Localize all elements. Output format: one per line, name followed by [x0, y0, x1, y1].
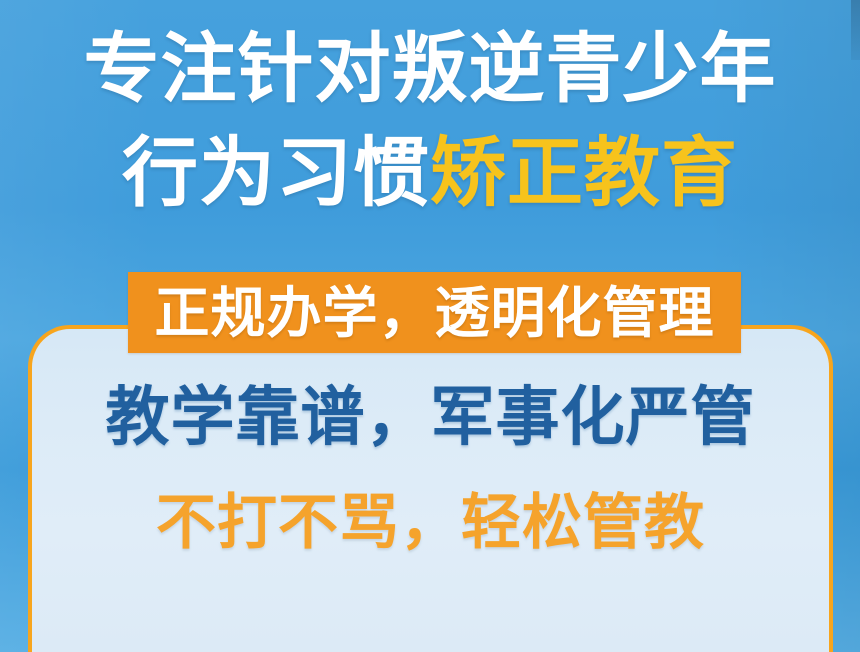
- card-line-secondary: 不打不骂，轻松管教: [32, 479, 829, 567]
- info-card-body: 教学靠谱，军事化严管 不打不骂，轻松管教: [32, 371, 829, 567]
- headline-line-2: 行为习惯矫正教育: [0, 122, 860, 226]
- headline-line-2-plain: 行为习惯: [122, 131, 430, 216]
- highlight-ribbon: 正规办学，透明化管理: [128, 272, 741, 353]
- info-card: 教学靠谱，军事化严管 不打不骂，轻松管教: [28, 325, 833, 652]
- card-line-primary: 教学靠谱，军事化严管: [32, 371, 829, 463]
- headline-block: 专注针对叛逆青少年 行为习惯矫正教育: [0, 18, 860, 226]
- headline-line-1: 专注针对叛逆青少年: [0, 18, 860, 122]
- headline-line-2-accent: 矫正教育: [430, 131, 738, 216]
- highlight-ribbon-text: 正规办学，透明化管理: [154, 283, 714, 343]
- promo-poster: 专注针对叛逆青少年 行为习惯矫正教育 教学靠谱，军事化严管 不打不骂，轻松管教 …: [0, 0, 860, 652]
